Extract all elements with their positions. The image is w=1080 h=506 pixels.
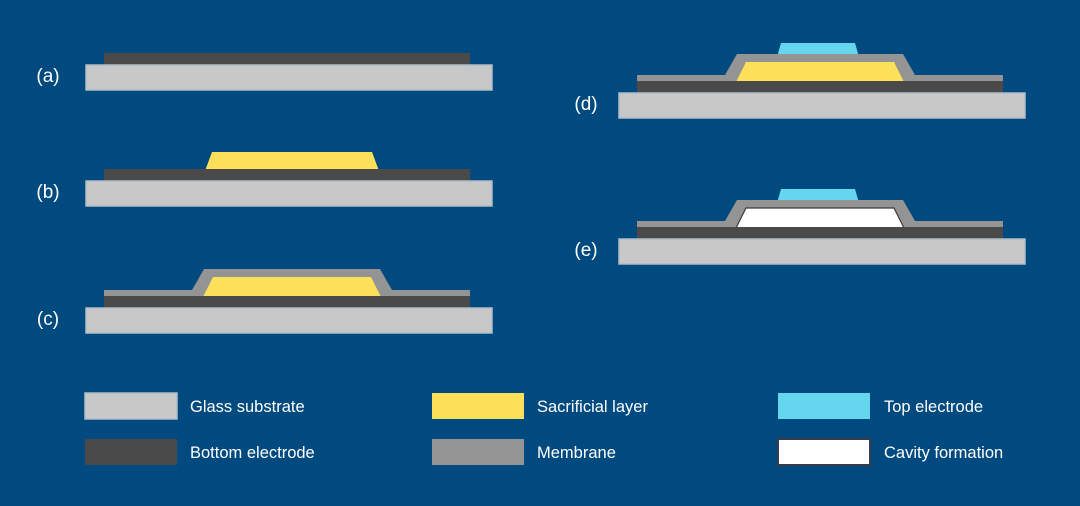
panel-b-label: (b) <box>36 182 59 203</box>
panel-e-glass-substrate <box>619 239 1025 264</box>
panel-d-sacrificial-layer <box>736 62 904 82</box>
panel-a-label: (a) <box>36 66 59 87</box>
legend-swatch-bottom-electrode <box>85 439 177 465</box>
panel-e-label: (e) <box>574 240 597 261</box>
panel-b-glass-substrate <box>86 181 492 206</box>
legend-label-membrane: Membrane <box>537 444 616 462</box>
legend-swatch-glass-substrate <box>85 393 177 419</box>
panel-d-bottom-electrode <box>637 81 1003 93</box>
panel-b-bottom-electrode <box>104 169 470 181</box>
panel-d-glass-substrate <box>619 93 1025 118</box>
panel-e-cavity-formation <box>736 208 904 228</box>
legend-label-top-electrode: Top electrode <box>884 398 983 416</box>
panel-a-bottom-electrode <box>104 53 470 65</box>
fabrication-process-diagram: (a) (b) (c) (d) (e) <box>0 0 1080 506</box>
panel-c-bottom-electrode <box>104 296 470 308</box>
legend-label-sacrificial-layer: Sacrificial layer <box>537 398 648 416</box>
panel-c-glass-substrate <box>86 308 492 333</box>
legend-label-cavity-formation: Cavity formation <box>884 444 1003 462</box>
panel-a-glass-substrate <box>86 65 492 90</box>
panel-c-sacrificial-layer <box>203 277 381 297</box>
legend-label-glass-substrate: Glass substrate <box>190 398 305 416</box>
legend-label-bottom-electrode: Bottom electrode <box>190 444 315 462</box>
legend-swatch-cavity-formation <box>778 439 870 465</box>
legend-swatch-membrane <box>432 439 524 465</box>
panel-e-bottom-electrode <box>637 227 1003 239</box>
panel-a: (a) <box>36 53 492 90</box>
panel-d-label: (d) <box>574 94 597 115</box>
panel-c-label: (c) <box>37 309 59 330</box>
legend-swatch-sacrificial-layer <box>432 393 524 419</box>
legend-swatch-top-electrode <box>778 393 870 419</box>
